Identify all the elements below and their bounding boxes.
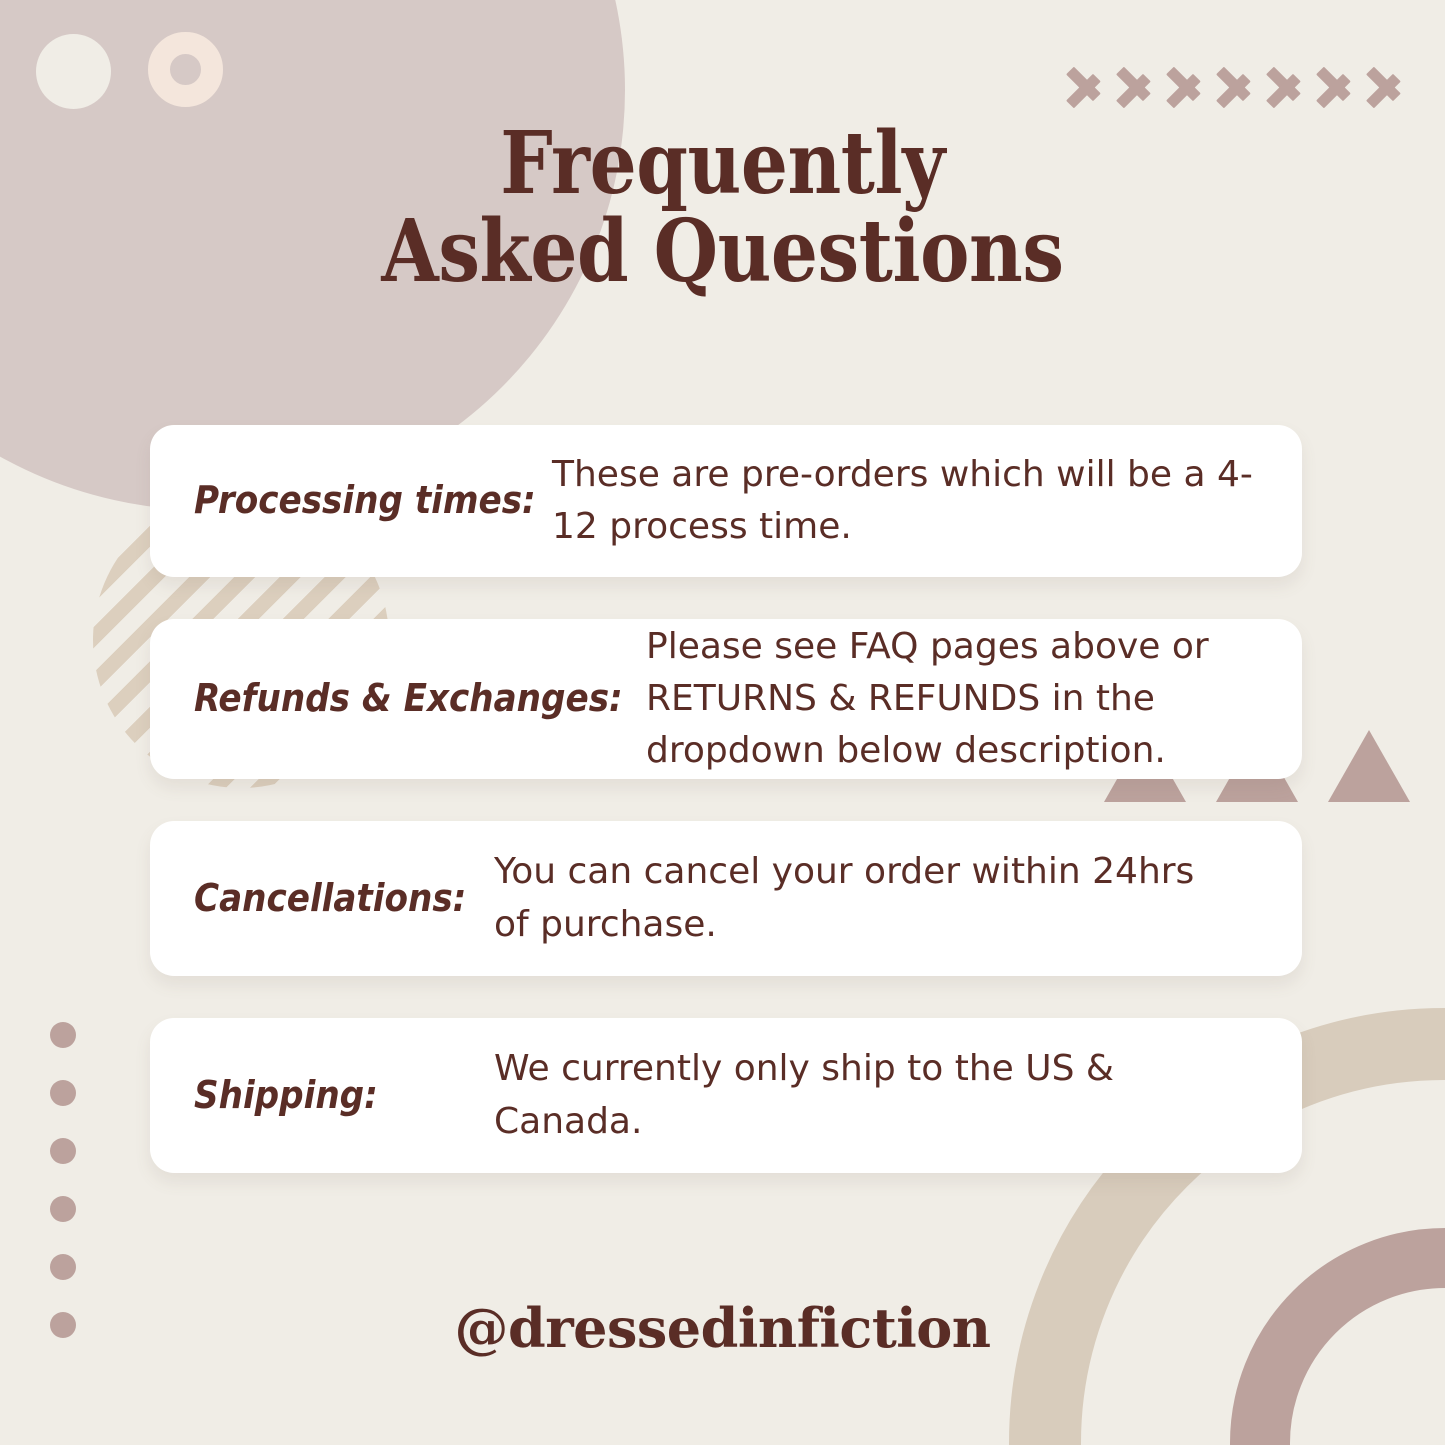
page-title-line-1: Frequently [101, 120, 1344, 208]
faq-answer: We currently only ship to the US & Canad… [494, 1043, 1254, 1147]
content-layer: Frequently Asked Questions Processing ti… [0, 0, 1445, 1445]
social-handle[interactable]: @dressedinfiction [0, 1296, 1445, 1360]
faq-card[interactable]: Shipping: We currently only ship to the … [150, 1018, 1302, 1173]
faq-label: Cancellations: [194, 877, 494, 921]
faq-card[interactable]: Cancellations: You can cancel your order… [150, 821, 1302, 976]
faq-card[interactable]: Refunds & Exchanges: Please see FAQ page… [150, 619, 1302, 779]
page-title-line-2: Asked Questions [101, 208, 1344, 296]
faq-graphic: Frequently Asked Questions Processing ti… [0, 0, 1445, 1445]
faq-answer: Please see FAQ pages above or RETURNS & … [646, 621, 1276, 778]
page-title: Frequently Asked Questions [101, 120, 1344, 295]
faq-answer: You can cancel your order within 24hrs o… [494, 846, 1234, 950]
faq-label: Refunds & Exchanges: [194, 677, 646, 721]
faq-list: Processing times: These are pre-orders w… [150, 425, 1302, 1215]
faq-card[interactable]: Processing times: These are pre-orders w… [150, 425, 1302, 577]
faq-label: Shipping: [194, 1074, 494, 1118]
faq-label: Processing times: [194, 479, 552, 523]
faq-answer: These are pre-orders which will be a 4-1… [552, 449, 1276, 553]
